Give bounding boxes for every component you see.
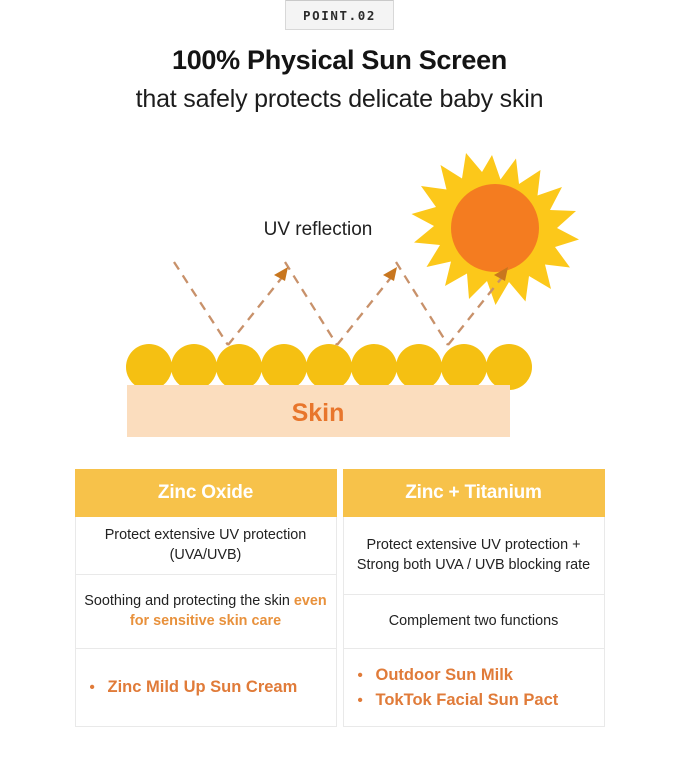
particle	[126, 344, 172, 390]
uv-ray-incoming-1	[174, 262, 228, 345]
skin-label: Skin	[292, 399, 345, 427]
product-list: • Zinc Mild Up Sun Cream	[90, 675, 298, 700]
table-cell-zinc-titanium-products: • Outdoor Sun Milk • TokTok Facial Sun P…	[343, 649, 605, 727]
table-cell-zinc-oxide-row1: Protect extensive UV protection (UVA/UVB…	[75, 517, 337, 575]
sun-icon	[412, 153, 580, 305]
particle	[486, 344, 532, 390]
cell-text: Protect extensive UV protection (UVA/UVB…	[84, 526, 328, 565]
table-cell-zinc-oxide-row2: Soothing and protecting the skin even fo…	[75, 575, 337, 649]
headline-secondary: that safely protects delicate baby skin	[0, 83, 679, 116]
list-item: • Zinc Mild Up Sun Cream	[90, 675, 298, 700]
table-cell-zinc-titanium-row1: Protect extensive UV protection + Strong…	[343, 517, 605, 595]
table-cell-zinc-titanium-row2: Complement two functions	[343, 595, 605, 649]
comparison-table: Zinc Oxide Protect extensive UV protecti…	[0, 469, 679, 727]
particle	[396, 344, 442, 390]
cell-text: Complement two functions	[389, 612, 559, 631]
particle	[261, 344, 307, 390]
particle	[351, 344, 397, 390]
column-header-zinc-oxide: Zinc Oxide	[75, 469, 337, 517]
headline-primary: 100% Physical Sun Screen	[0, 44, 679, 78]
uv-ray-incoming-3	[396, 262, 448, 345]
product-name: TokTok Facial Sun Pact	[376, 688, 559, 713]
bullet-icon: •	[358, 665, 376, 688]
uv-reflection-label: UV reflection	[264, 219, 373, 240]
product-name: Outdoor Sun Milk	[376, 663, 514, 688]
uv-ray-reflected-2	[337, 275, 393, 345]
uv-ray-reflected-1	[228, 275, 284, 345]
cell-text: Soothing and protecting the skin even fo…	[84, 592, 328, 631]
sun-core	[451, 184, 539, 272]
particle	[441, 344, 487, 390]
uv-reflection-diagram: UV reflection	[0, 125, 679, 455]
product-name: Zinc Mild Up Sun Cream	[108, 675, 298, 700]
cell-text: Protect extensive UV protection + Strong…	[352, 536, 596, 575]
list-item: • Outdoor Sun Milk	[358, 663, 559, 688]
particle	[306, 344, 352, 390]
table-column-zinc-oxide: Zinc Oxide Protect extensive UV protecti…	[75, 469, 337, 727]
table-column-zinc-titanium: Zinc + Titanium Protect extensive UV pro…	[343, 469, 605, 727]
uv-ray-incoming-2	[285, 262, 337, 345]
table-cell-zinc-oxide-products: • Zinc Mild Up Sun Cream	[75, 649, 337, 727]
particle	[216, 344, 262, 390]
point-badge: POINT.02	[285, 0, 394, 30]
page-title: 100% Physical Sun Screen that safely pro…	[0, 44, 679, 115]
sunscreen-particle-layer	[126, 344, 532, 390]
particle	[171, 344, 217, 390]
bullet-icon: •	[90, 677, 108, 700]
cell-text-plain: Soothing and protecting the skin	[84, 593, 294, 609]
list-item: • TokTok Facial Sun Pact	[358, 688, 559, 713]
product-list: • Outdoor Sun Milk • TokTok Facial Sun P…	[358, 663, 559, 713]
bullet-icon: •	[358, 690, 376, 713]
column-header-zinc-titanium: Zinc + Titanium	[343, 469, 605, 517]
badge-container: POINT.02	[0, 0, 679, 30]
